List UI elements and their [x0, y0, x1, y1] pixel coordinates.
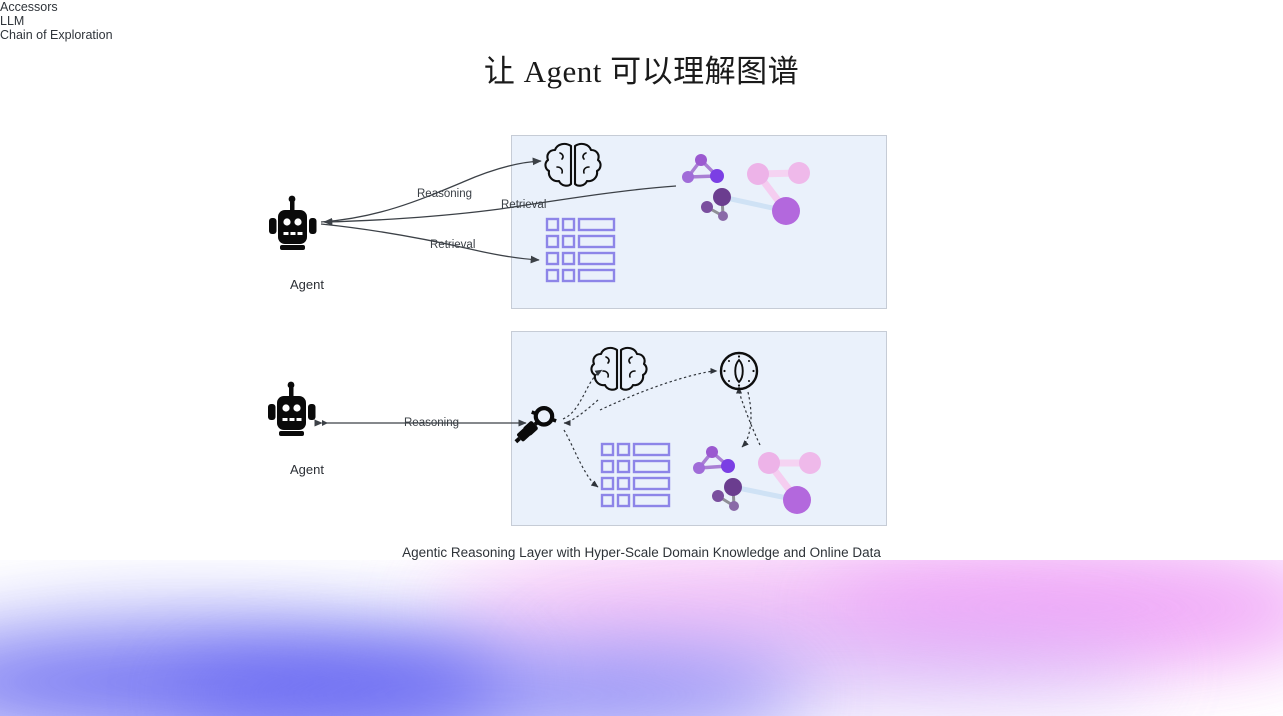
diagram-caption: Agentic Reasoning Layer with Hyper-Scale…: [0, 545, 1283, 560]
gradient-blob-pink-2: [820, 560, 1283, 655]
chain-of-exploration-label: Chain of Exploration: [0, 28, 1283, 42]
gradient-blob-blue-2: [170, 652, 810, 716]
slide-root: 让 Agent 可以理解图谱: [0, 0, 1283, 716]
agent-label-bottom: Agent: [290, 462, 324, 477]
edge-label-retrieval-graph: Retrieval: [501, 199, 546, 211]
accessors-label: Accessors: [0, 0, 1283, 14]
edge-label-retrieval-table: Retrieval: [430, 239, 475, 251]
gradient-blob-lavender: [540, 630, 1160, 710]
agent-robot-icon-top: [269, 196, 317, 250]
page-title: 让 Agent 可以理解图谱: [0, 52, 1283, 92]
agentic-reasoning-panel: [511, 331, 887, 526]
edge-label-reasoning-bottom: Reasoning: [404, 417, 459, 429]
gradient-blob-blue: [0, 622, 510, 716]
gradient-blob-pink: [430, 560, 1283, 670]
agent-label-top: Agent: [290, 277, 324, 292]
llm-label: LLM: [0, 14, 1283, 28]
agent-robot-icon-bottom: [268, 382, 316, 436]
decorative-gradient: [0, 560, 1283, 716]
edge-label-reasoning-top: Reasoning: [417, 188, 472, 200]
retrieval-panel: [511, 135, 887, 309]
